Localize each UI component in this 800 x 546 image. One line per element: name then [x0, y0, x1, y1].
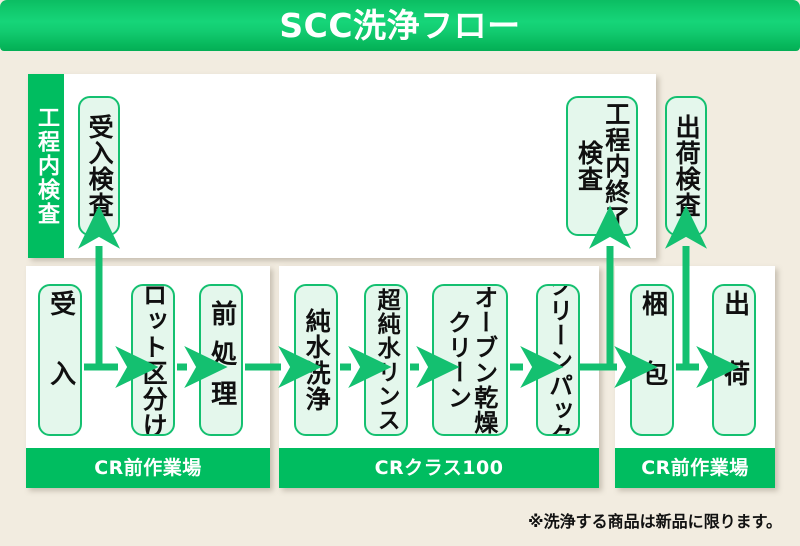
- page-title: SCC洗浄フロー: [0, 0, 800, 51]
- inspection-box-process-completion[interactable]: 工程内終了 検査: [566, 96, 638, 236]
- inspection-box-shipping-label: 出荷検査: [673, 114, 699, 218]
- inspection-band-label: 工程内検査: [28, 74, 64, 258]
- process-box-ultrapure-rinse-label: 超純水リンス: [374, 288, 398, 432]
- process-box-shipping[interactable]: 出荷: [712, 284, 756, 436]
- process-box-ultrapure-rinse[interactable]: 超純水リンス: [364, 284, 408, 436]
- process-box-receiving[interactable]: 受入: [38, 284, 82, 436]
- process-box-clean-pack-label: クリーンパック: [545, 284, 570, 436]
- process-box-lot-sorting-label: ロット区分け: [140, 284, 166, 436]
- group-footer-cleanroom: CRクラス100: [279, 448, 599, 488]
- process-box-lot-sorting[interactable]: ロット区分け: [131, 284, 175, 436]
- process-box-packing[interactable]: 梱包: [630, 284, 674, 436]
- process-box-packing-label: 梱包: [638, 290, 665, 430]
- process-box-clean-oven-drying[interactable]: オーブン乾燥 クリーン: [432, 284, 508, 436]
- footnote: ※洗浄する商品は新品に限ります。: [528, 514, 782, 530]
- inspection-box-process-completion-col2: 検査: [575, 140, 601, 192]
- process-box-pretreatment-label: 前処理: [207, 300, 234, 420]
- inspection-box-receiving-label: 受入検査: [86, 114, 112, 218]
- process-box-pretreatment[interactable]: 前処理: [199, 284, 243, 436]
- process-box-pure-water-wash-label: 純水洗浄: [303, 308, 329, 412]
- process-box-clean-oven-drying-col2: クリーン: [444, 310, 469, 410]
- process-box-shipping-label: 出荷: [720, 290, 747, 430]
- process-box-receiving-label: 受入: [46, 290, 73, 430]
- inspection-panel: [28, 74, 656, 258]
- process-box-clean-pack[interactable]: クリーンパック: [536, 284, 580, 436]
- inspection-box-process-completion-col1: 工程内終了: [603, 101, 629, 231]
- group-footer-pre-cleanroom-2: CR前作業場: [615, 448, 775, 488]
- process-box-pure-water-wash[interactable]: 純水洗浄: [294, 284, 338, 436]
- flow-diagram: SCC洗浄フロー 工程内検査 受入検査 工程内終了 検査 出荷検査 CR前作業場…: [0, 0, 800, 546]
- inspection-box-shipping[interactable]: 出荷検査: [665, 96, 707, 236]
- inspection-box-receiving[interactable]: 受入検査: [78, 96, 120, 236]
- process-box-clean-oven-drying-col1: オーブン乾燥: [471, 285, 496, 435]
- inspection-band-label-text: 工程内検査: [35, 106, 57, 226]
- group-footer-pre-cleanroom-1: CR前作業場: [26, 448, 270, 488]
